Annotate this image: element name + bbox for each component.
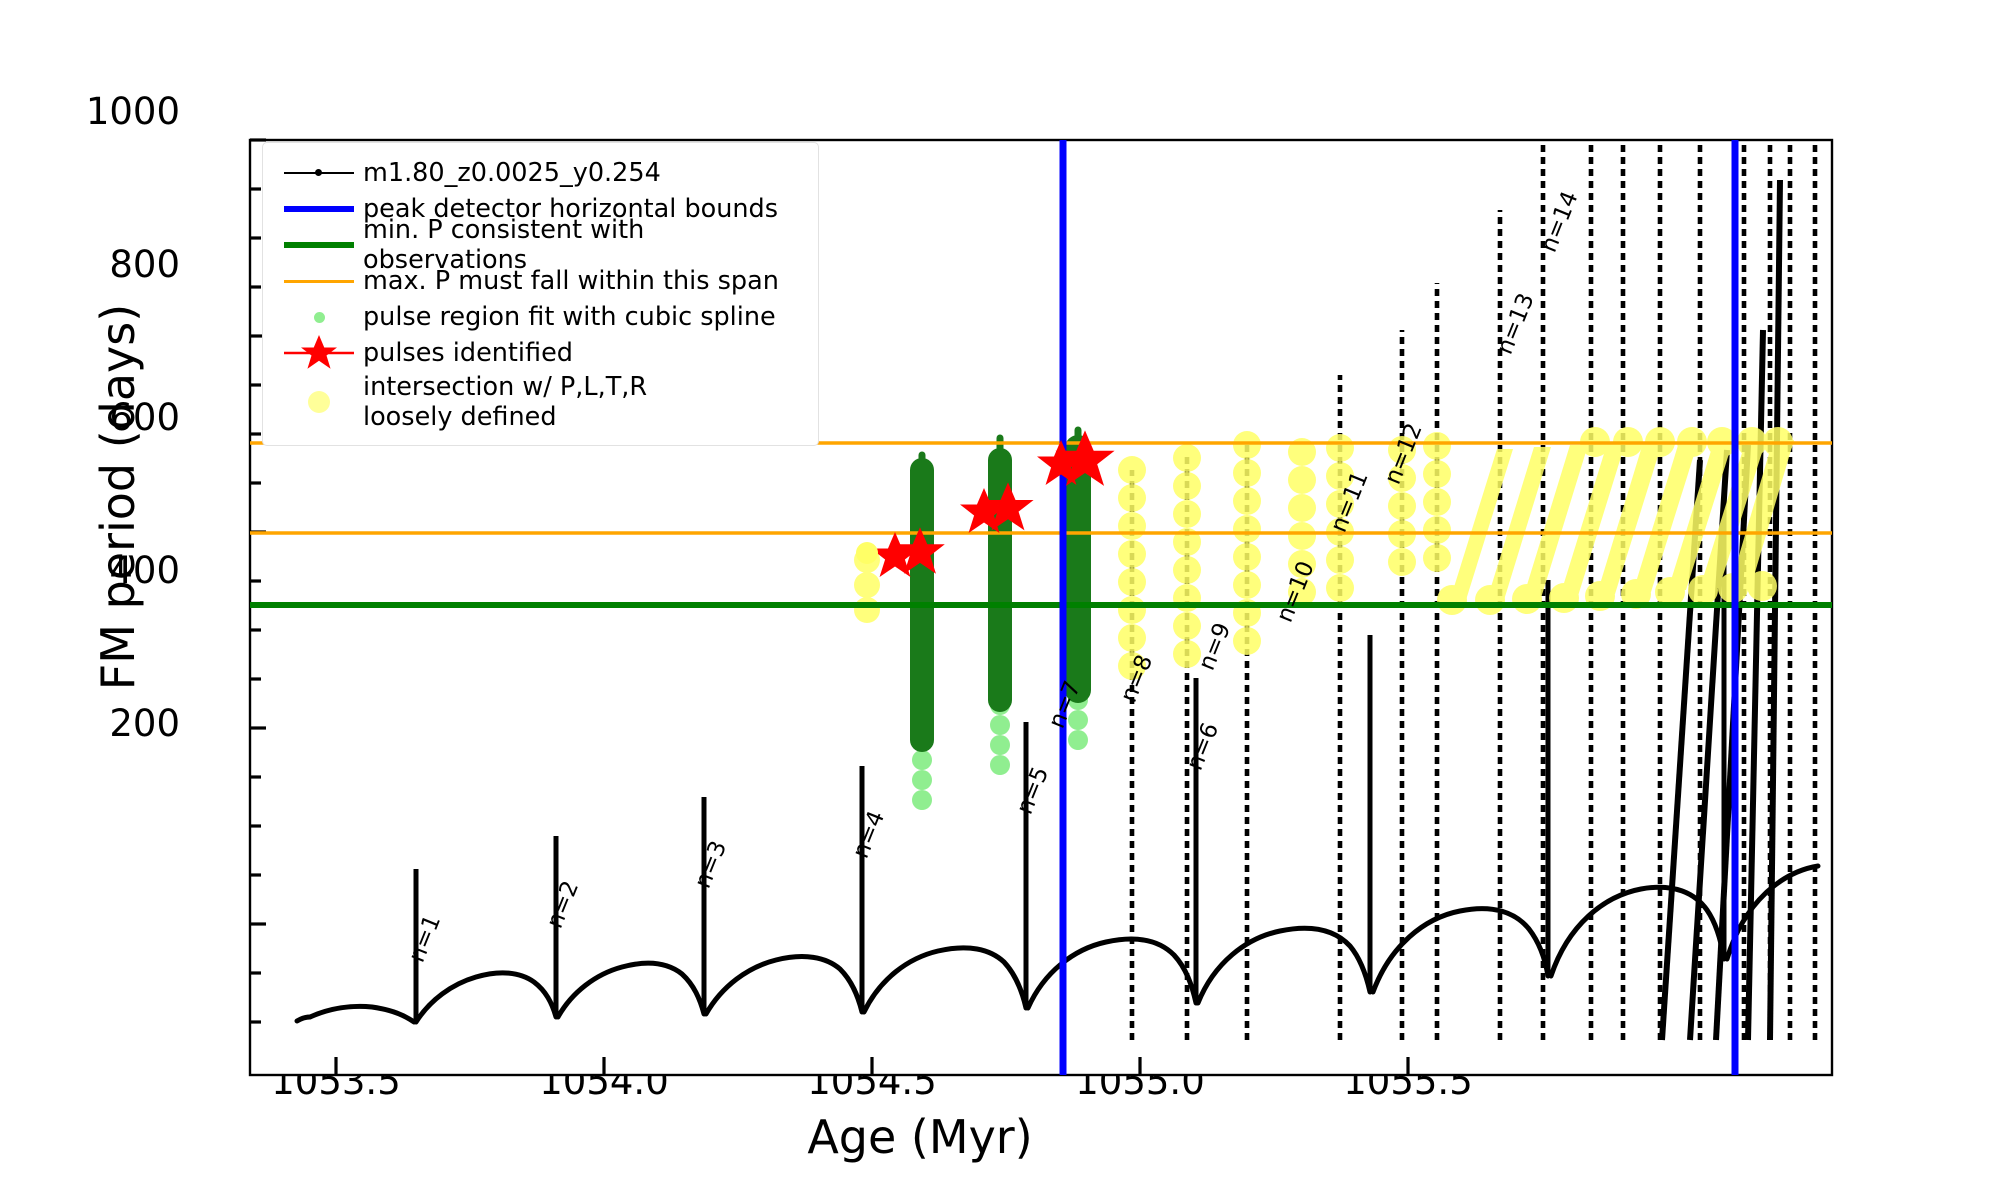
yellow-dot-n7: [856, 542, 878, 564]
legend-label-pulses: pulses identified: [363, 338, 573, 368]
legend-label-max-period: max. P must fall within this span: [363, 266, 779, 296]
legend-item-intersection[interactable]: intersection w/ P,L,T,R loosely defined: [275, 371, 804, 433]
legend-box: m1.80_z0.0025_y0.254 peak detector horiz…: [262, 142, 819, 446]
model-line-key: [275, 155, 363, 191]
legend-label-model: m1.80_z0.0025_y0.254: [363, 158, 661, 188]
green-dot-key: [275, 299, 363, 335]
figure-container: FM period (days) Age (Myr) 1000 800 600 …: [0, 0, 2000, 1200]
legend-item-spline[interactable]: pulse region fit with cubic spline: [275, 299, 804, 335]
legend-label-spline: pulse region fit with cubic spline: [363, 302, 776, 332]
red-star-key: [275, 335, 363, 371]
orange-line-key: [275, 263, 363, 299]
legend-item-min-period[interactable]: min. P consistent with observations: [275, 227, 804, 263]
legend-label-intersection: intersection w/ P,L,T,R loosely defined: [363, 372, 647, 432]
yellow-col-e: [1423, 432, 1451, 572]
blue-line-key: [275, 191, 363, 227]
legend-item-pulses[interactable]: pulses identified: [275, 335, 804, 371]
yellow-dot-key: [275, 384, 363, 420]
legend-item-max-period[interactable]: max. P must fall within this span: [275, 263, 804, 299]
green-line-key: [275, 227, 363, 263]
legend-item-model[interactable]: m1.80_z0.0025_y0.254: [275, 155, 804, 191]
